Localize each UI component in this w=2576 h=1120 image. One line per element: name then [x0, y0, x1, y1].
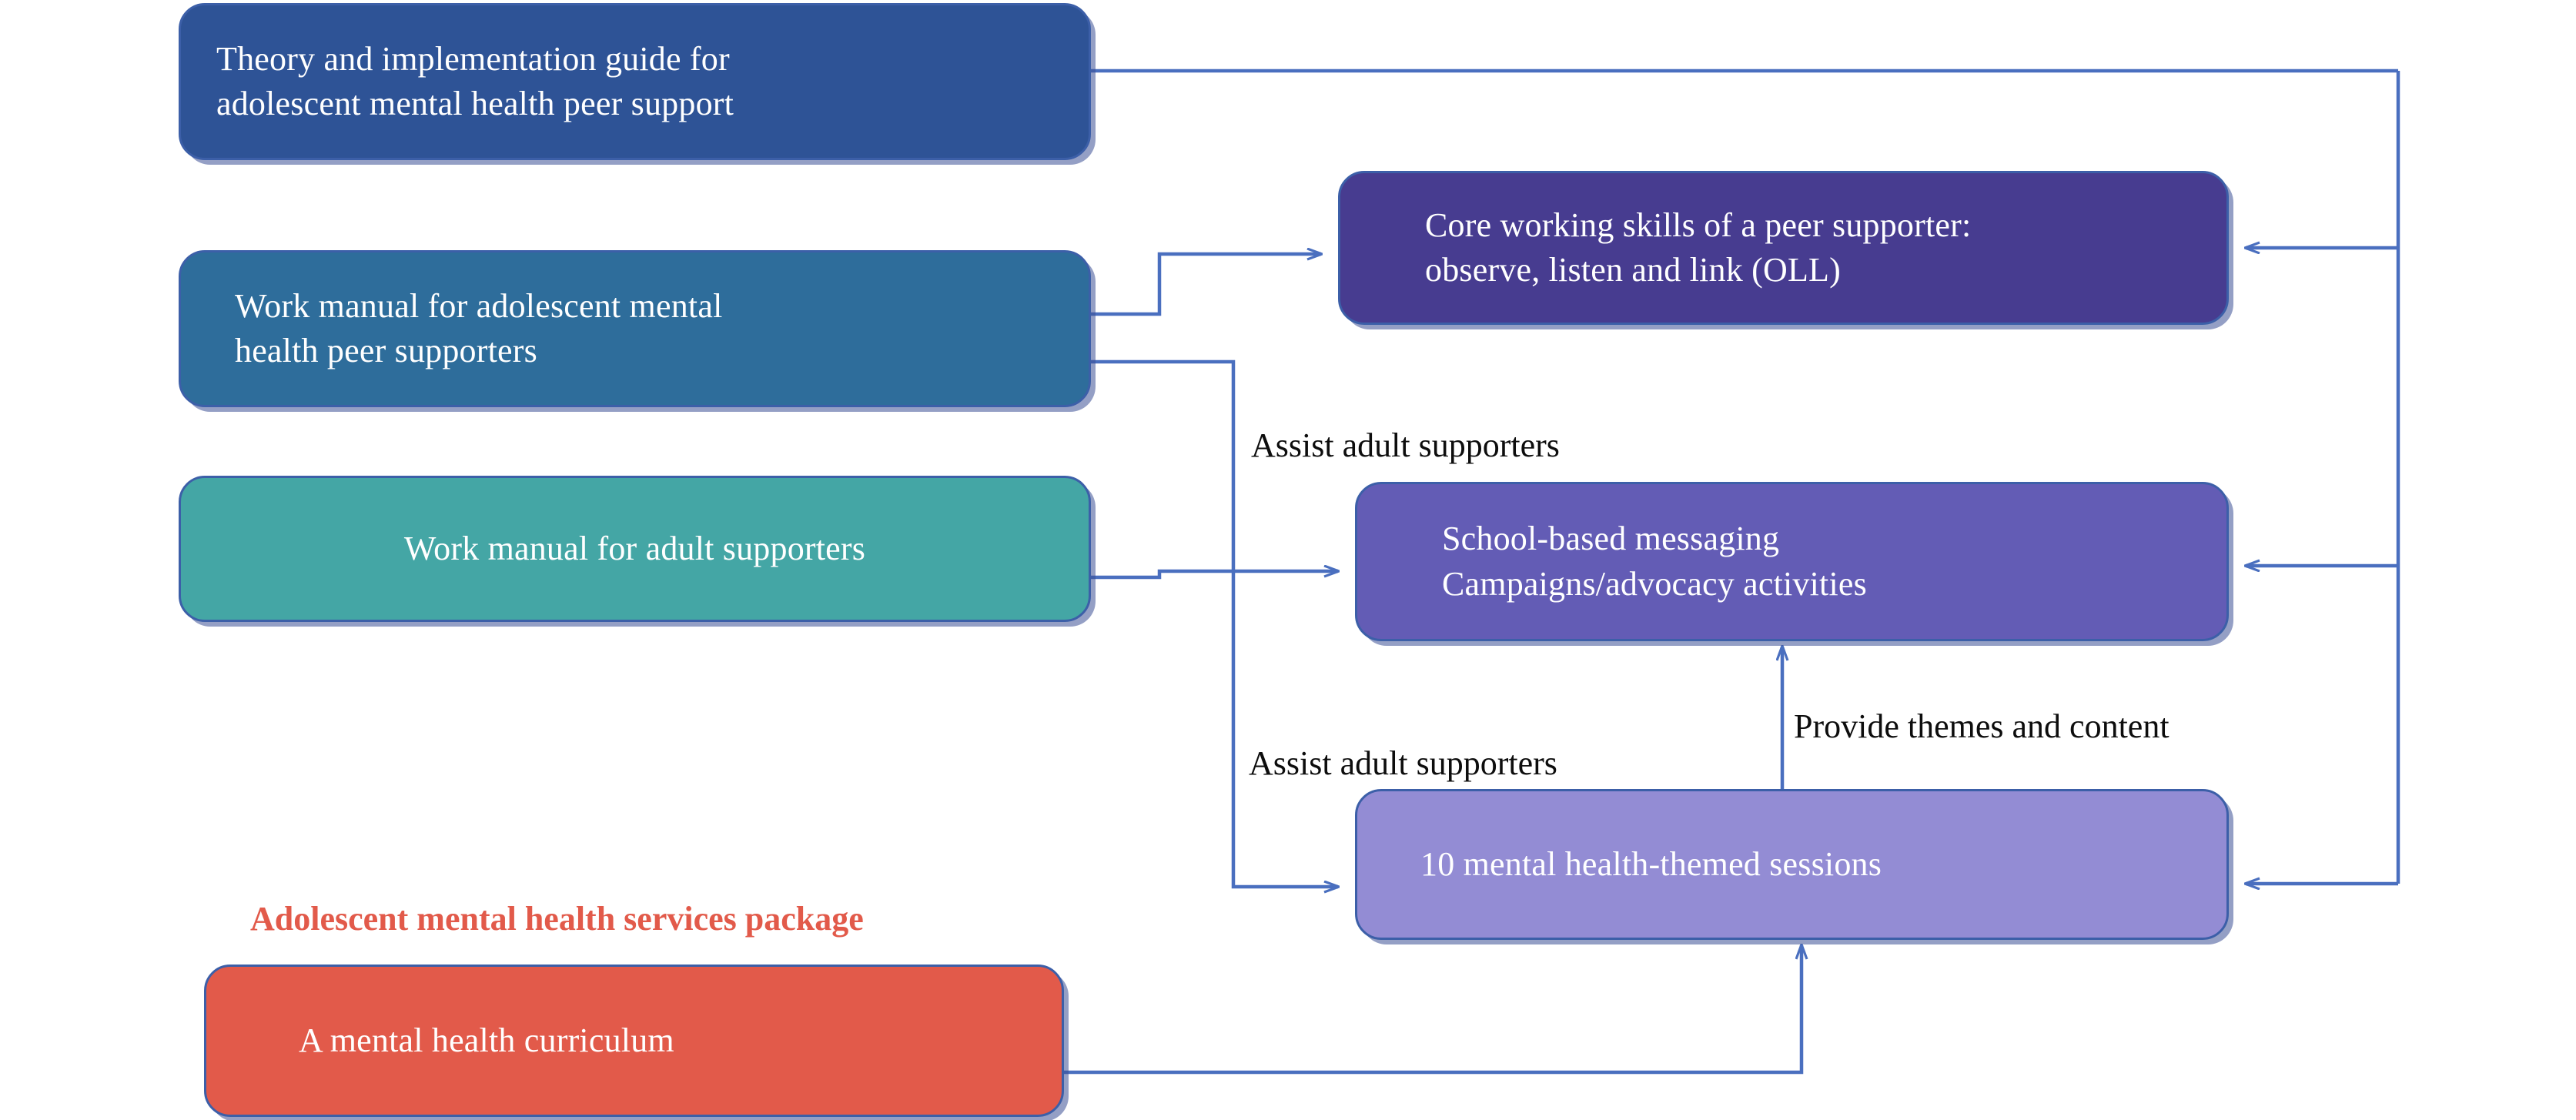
node-label: Work manual for adult supporters [212, 527, 1058, 571]
edge-adult-manual-to-school-messaging [1091, 571, 1338, 577]
node-peer-supporter-manual[interactable]: Work manual for adolescent mental health… [179, 250, 1091, 407]
node-themed-sessions[interactable]: 10 mental health-themed sessions [1355, 789, 2229, 940]
node-label: 10 mental health-themed sessions [1420, 842, 2163, 887]
node-label: A mental health curriculum [299, 1018, 969, 1063]
node-mental-health-curriculum[interactable]: A mental health curriculum [204, 965, 1064, 1117]
node-theory-guide[interactable]: Theory and implementation guide for adol… [179, 3, 1091, 160]
node-school-messaging[interactable]: School-based messaging Campaigns/advocac… [1355, 482, 2229, 641]
node-label: Core working skills of a peer supporter:… [1425, 203, 2142, 293]
node-core-skills[interactable]: Core working skills of a peer supporter:… [1338, 171, 2229, 325]
edge-label-provide-themes-and-content: Provide themes and content [1794, 708, 2170, 745]
edge-peer-manual-to-core-skills [1091, 254, 1321, 314]
node-label: School-based messaging Campaigns/advocac… [1442, 517, 2142, 606]
package-heading: Adolescent mental health services packag… [250, 901, 864, 938]
node-label: Work manual for adolescent mental health… [235, 284, 1035, 373]
edge-label-assist-adult-supporters-top: Assist adult supporters [1251, 427, 1560, 464]
node-label: Theory and implementation guide for adol… [216, 37, 1053, 126]
diagram-canvas: Theory and implementation guide for adol… [0, 0, 2576, 1120]
edge-curriculum-to-themed-sessions [1064, 945, 1802, 1072]
node-adult-supporter-manual[interactable]: Work manual for adult supporters [179, 476, 1091, 622]
edge-label-assist-adult-supporters-bottom: Assist adult supporters [1249, 745, 1557, 782]
